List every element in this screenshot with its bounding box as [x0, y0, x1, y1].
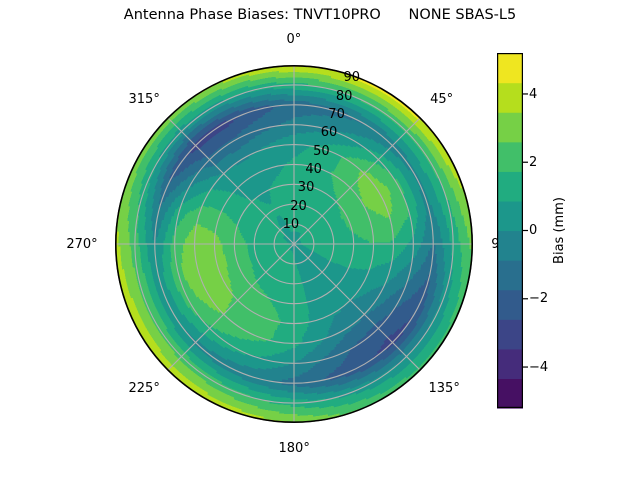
r-tick-label-60: 60	[321, 126, 338, 139]
colorbar-axis-title-text: Bias (mm)	[552, 197, 567, 264]
colorbar-band	[497, 290, 523, 320]
colorbar-tick-label-4: 4	[529, 88, 537, 101]
colorbar-band	[497, 142, 523, 172]
colorbar-band	[497, 171, 523, 201]
r-tick-label-30: 30	[298, 181, 315, 194]
r-tick-label-90: 90	[344, 71, 361, 84]
colorbar-band	[497, 112, 523, 142]
theta-tick-label-315: 315°	[129, 93, 160, 106]
theta-tick-label-270: 270°	[66, 238, 97, 251]
polar-grid-layer	[115, 65, 473, 423]
colorbar-band	[497, 231, 523, 261]
colorbar-band	[497, 349, 523, 379]
figure-canvas: Antenna Phase Biases: TNVT10PRO NONE SBA…	[0, 0, 640, 480]
theta-tick-label-225: 225°	[129, 382, 160, 395]
colorbar-tick-label-neg2: −2	[529, 292, 548, 305]
colorbar-band	[497, 378, 523, 408]
theta-tick-label-45: 45°	[430, 93, 453, 106]
r-tick-label-10: 10	[283, 218, 300, 231]
colorbar[interactable]: −4 −2 0 2 4	[497, 53, 523, 408]
polar-contour-plot[interactable]	[115, 65, 473, 423]
colorbar-band	[497, 201, 523, 231]
colorbar-tick-label-neg4: −4	[529, 361, 548, 374]
theta-tick-label-135: 135°	[429, 382, 460, 395]
colorbar-tick-label-2: 2	[529, 156, 537, 169]
colorbar-tick-label-0: 0	[529, 224, 537, 237]
theta-tick-label-180: 180°	[279, 442, 310, 455]
colorbar-band	[497, 319, 523, 349]
colorbar-band	[497, 260, 523, 290]
colorbar-band	[497, 53, 523, 83]
page-title: Antenna Phase Biases: TNVT10PRO NONE SBA…	[0, 7, 640, 23]
theta-tick-label-0: 0°	[287, 33, 302, 46]
r-tick-label-20: 20	[290, 200, 307, 213]
colorbar-axis-title: Bias (mm)	[548, 53, 570, 408]
r-tick-label-70: 70	[328, 108, 345, 121]
r-tick-label-50: 50	[313, 145, 330, 158]
polar-axes[interactable]: 0° 45° 90° 135° 180° 225° 270° 315° 10 2…	[115, 65, 473, 423]
colorbar-band	[497, 83, 523, 113]
colorbar-gradient[interactable]	[497, 53, 523, 408]
r-tick-label-80: 80	[336, 90, 353, 103]
r-tick-label-40: 40	[305, 163, 322, 176]
